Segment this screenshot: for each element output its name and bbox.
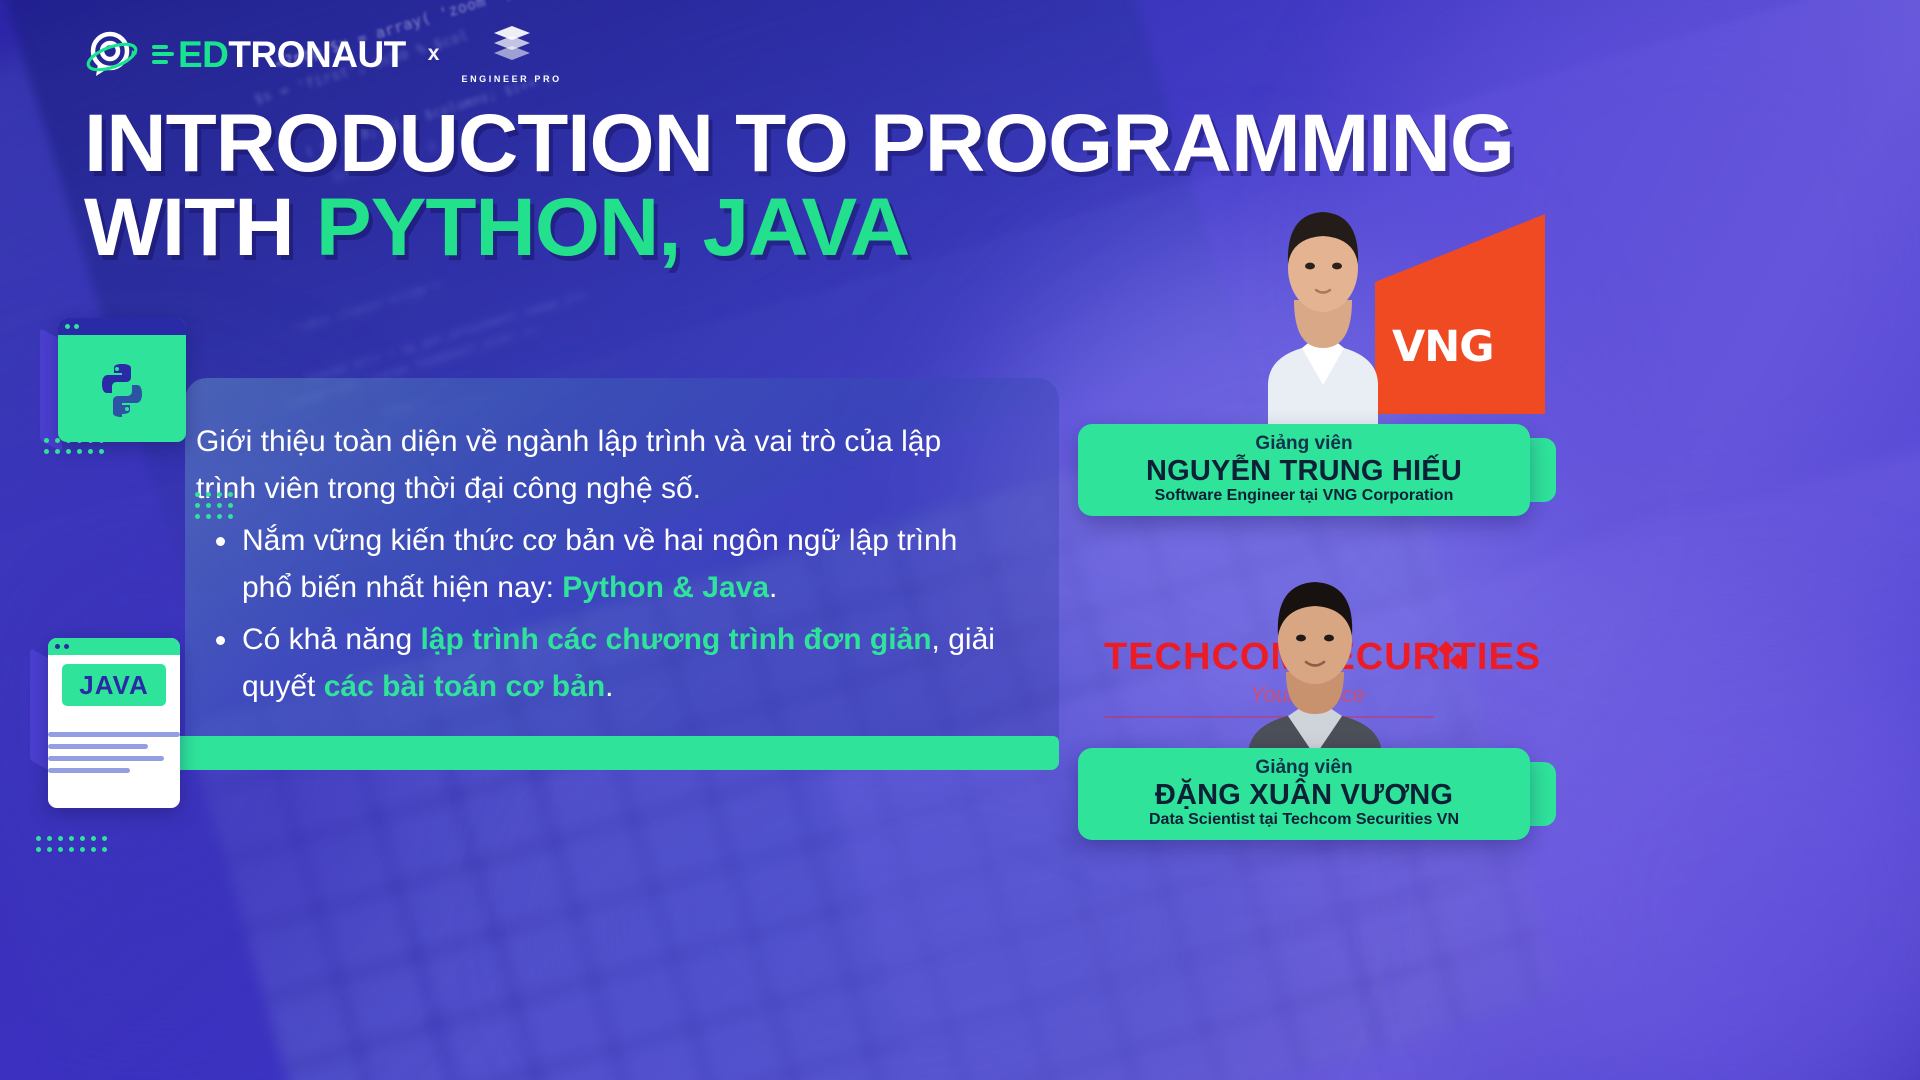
banner-root: <?php $x = array( 'zoom' ); $s = 'first'… xyxy=(0,0,1920,1080)
decorative-dots xyxy=(195,492,233,519)
instructor-2-role: Giảng viên xyxy=(1255,758,1352,779)
instructor-2-name: ĐẶNG XUÂN VƯƠNG xyxy=(1155,779,1453,811)
bullet-highlight-1: lập trình các chương trình đơn giản xyxy=(420,623,931,656)
chevron-stack-icon xyxy=(490,24,534,69)
logo-suffix: TRONAUT xyxy=(228,36,405,73)
logo-prefix: ED xyxy=(178,36,228,73)
engineer-pro-label: ENGINEER PRO xyxy=(461,74,561,84)
instructor-2-position: Data Scientist tại Techcom Securities VN xyxy=(1149,811,1459,829)
python-window-icon xyxy=(58,318,186,442)
content-lead: Giới thiệu toàn diện về ngành lập trình … xyxy=(196,418,996,513)
decorative-dots xyxy=(36,836,107,852)
header-logos: ED TRONAUT x ENGINEER PRO xyxy=(84,24,562,84)
page-title: INTRODUCTION TO PROGRAMMING WITH PYTHON,… xyxy=(84,105,1514,267)
planet-icon xyxy=(84,26,140,82)
instructor-1-role: Giảng viên xyxy=(1255,434,1352,455)
java-icon-box: JAVA xyxy=(30,638,200,858)
vng-logo-text: VNG xyxy=(1392,322,1494,372)
title-line-2-highlight: PYTHON, JAVA xyxy=(316,182,909,273)
instructor-1-position: Software Engineer tại VNG Corporation xyxy=(1155,487,1454,505)
instructor-1-name: NGUYỄN TRUNG HIẾU xyxy=(1146,455,1462,487)
python-glyph-icon xyxy=(58,335,186,442)
window-titlebar xyxy=(48,638,180,655)
code-lines-decoration xyxy=(48,714,180,797)
instructor-2-namecard[interactable]: Giảng viên ĐẶNG XUÂN VƯƠNG Data Scientis… xyxy=(1078,748,1530,840)
list-item: Nắm vững kiến thức cơ bản về hai ngôn ng… xyxy=(242,517,996,612)
instructor-1-namecard[interactable]: Giảng viên NGUYỄN TRUNG HIẾU Software En… xyxy=(1078,424,1530,516)
java-window-icon: JAVA xyxy=(48,638,180,808)
bullet-highlight-2: các bài toán cơ bản xyxy=(324,670,605,703)
logo-separator: x xyxy=(428,42,440,66)
title-line-1: INTRODUCTION TO PROGRAMMING xyxy=(84,105,1514,183)
window-titlebar xyxy=(58,318,186,335)
bullet-highlight-1: Python xyxy=(562,571,664,604)
bullet-post: . xyxy=(769,571,777,604)
bars-icon xyxy=(152,45,174,64)
title-line-2: WITH PYTHON, JAVA xyxy=(84,189,1514,267)
bullet-post: . xyxy=(605,670,613,703)
edtronaut-wordmark: ED TRONAUT xyxy=(152,36,406,73)
content-text: Giới thiệu toàn diện về ngành lập trình … xyxy=(196,418,996,714)
techcom-diamond-icon xyxy=(1437,640,1467,670)
title-line-2-prefix: WITH xyxy=(84,182,316,273)
decorative-dots xyxy=(44,438,104,454)
list-item: Có khả năng lập trình các chương trình đ… xyxy=(242,616,996,711)
engineer-pro-logo[interactable]: ENGINEER PRO xyxy=(461,24,561,84)
bullet-highlight-2: Java xyxy=(702,571,769,604)
content-panel-accent-bar xyxy=(155,736,1059,770)
java-label: JAVA xyxy=(62,664,166,706)
bullet-mid: & xyxy=(664,571,702,604)
bullet-pre: Có khả năng xyxy=(242,623,420,656)
edtronaut-logo[interactable]: ED TRONAUT xyxy=(84,26,406,82)
content-bullet-list: Nắm vững kiến thức cơ bản về hai ngôn ng… xyxy=(196,517,996,711)
